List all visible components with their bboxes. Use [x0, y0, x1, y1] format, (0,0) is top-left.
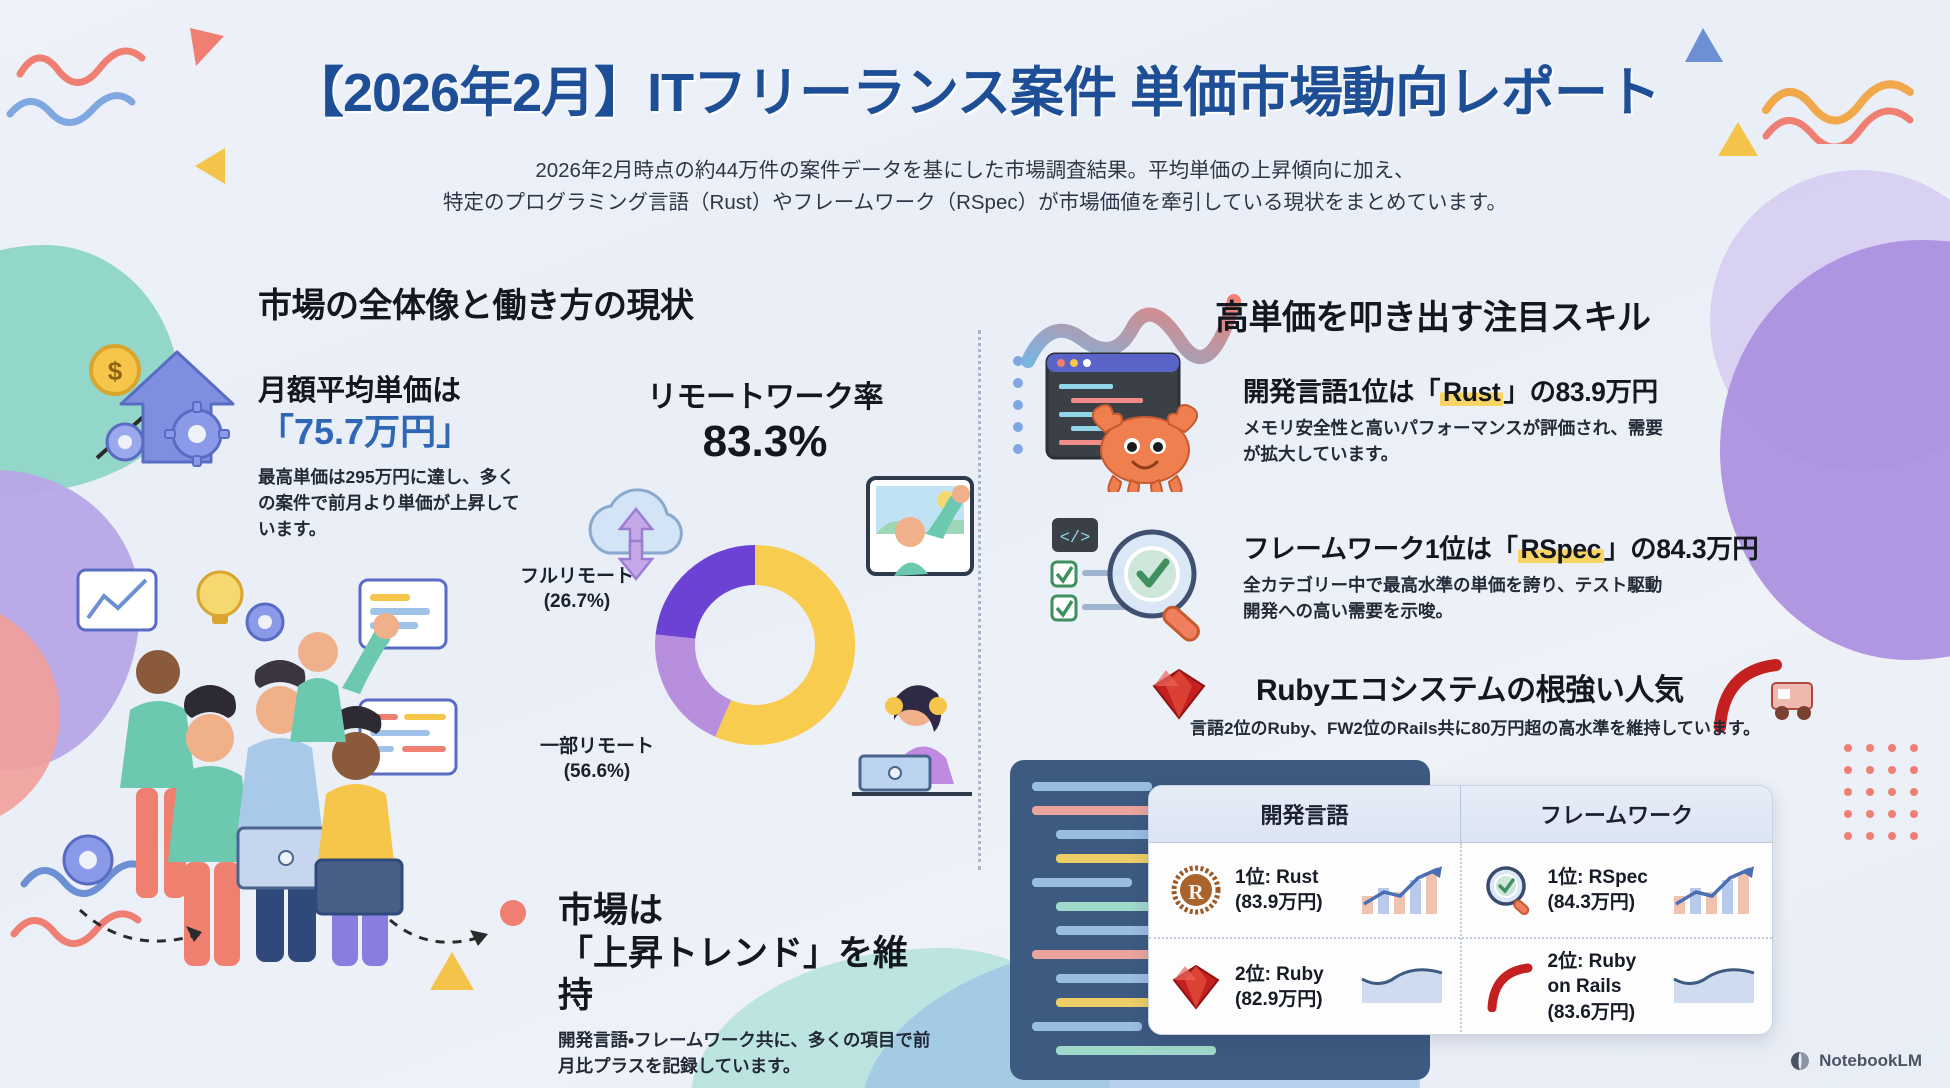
footer-brand-label: NotebookLM	[1819, 1051, 1922, 1071]
skill-rust-heading-post: 」の83.9万円	[1503, 377, 1657, 407]
table-row: 1位: RSpec (84.3万円)	[1462, 843, 1773, 939]
skill-rust-heading: 開発言語1位は「Rust」の83.9万円	[1243, 370, 1673, 409]
area-flat-sparkline-icon	[1670, 961, 1758, 1013]
remote-work-donut-chart	[630, 520, 880, 770]
ranking-cell-text: 2位: Ruby (82.9万円)	[1235, 962, 1346, 1012]
average-price-block: 月額平均単価は 「75.7万円」 最高単価は295万円に達し、多くの案件で前月よ…	[258, 375, 528, 542]
ranking-column-header-language: 開発言語	[1149, 786, 1461, 842]
rails-logo-icon	[1482, 960, 1536, 1014]
remote-work-label: リモートワーク率	[600, 372, 930, 416]
column-divider	[978, 330, 981, 870]
svg-text:R: R	[1188, 880, 1204, 904]
table-row: 2位: Ruby on Rails (83.6万円)	[1462, 939, 1773, 1035]
magnifier-check-list-icon: </>	[1048, 512, 1218, 647]
page-subtitle: 2026年2月時点の約44万件の案件データを基にした市場調査結果。平均単価の上昇…	[0, 155, 1950, 219]
donut-label-full-remote-name: フルリモート	[520, 565, 634, 590]
market-trend-title-line2: 「上昇トレンド」を維持	[558, 933, 938, 1018]
ranking-cell-text: 2位: Ruby on Rails (83.6万円)	[1548, 949, 1659, 1024]
ranking-rank-label: 1位: RSpec	[1548, 865, 1659, 890]
decor-squiggle-bottom-coral	[10, 900, 150, 960]
section-heading-left: 市場の全体像と働き方の現状	[258, 278, 694, 327]
skill-rspec-note: 全カテゴリー中で最高水準の単価を誇り、テスト駆動開発への高い需要を示唆。	[1243, 573, 1663, 625]
ranking-column-language: R 1位: Rust (83.9万円)	[1149, 843, 1462, 1035]
skill-item-ruby-ecosystem: Rubyエコシステムの根強い人気 言語2位のRuby、FW2位のRails共に8…	[1190, 665, 1790, 741]
rust-logo-icon: R	[1169, 863, 1223, 917]
subtitle-line-1: 2026年2月時点の約44万件の案件データを基にした市場調査結果。平均単価の上昇…	[0, 155, 1950, 187]
ranking-cell-text: 1位: Rust (83.9万円)	[1235, 865, 1346, 915]
skill-item-rspec: フレームワーク1位は「RSpec」の84.3万円 全カテゴリー中で最高水準の単価…	[1243, 527, 1758, 625]
ranking-price: (82.9万円)	[1235, 987, 1346, 1012]
ranking-table: 開発言語 フレームワーク R 1位: Rust (83.9万円)	[1148, 785, 1773, 1035]
skill-rspec-highlight: RSpec	[1518, 534, 1604, 564]
donut-slice-full-remote	[656, 545, 755, 639]
remote-work-percent: 83.3%	[600, 418, 930, 466]
ranking-column-header-framework: フレームワーク	[1461, 786, 1772, 842]
area-flat-sparkline-icon	[1358, 961, 1446, 1013]
average-price-note: 最高単価は295万円に達し、多くの案件で前月より単価が上昇しています。	[258, 464, 528, 543]
decor-dot-coral	[500, 900, 526, 926]
crab-terminal-icon	[1045, 352, 1220, 492]
page-title: 【2026年2月】ITフリーランス案件 単価市場動向レポート	[0, 48, 1950, 127]
skill-rspec-heading-post: 」の84.3万円	[1604, 534, 1758, 564]
skill-rust-heading-pre: 開発言語1位は「	[1243, 377, 1440, 407]
skill-ruby-heading: Rubyエコシステムの根強い人気	[1190, 665, 1790, 709]
average-price-value: 「75.7万円」	[258, 410, 528, 453]
donut-label-partial-remote: 一部リモート (56.6%)	[540, 735, 654, 784]
skill-rust-highlight: Rust	[1440, 377, 1503, 407]
decor-blob-coral	[0, 600, 60, 830]
ranking-table-header: 開発言語 フレームワーク	[1149, 786, 1772, 843]
decor-squiggle-bottom-blue	[20, 850, 160, 910]
decor-dot-grid	[1840, 740, 1940, 870]
donut-label-full-remote: フルリモート (26.7%)	[520, 565, 634, 614]
svg-text:</>: </>	[1060, 529, 1091, 548]
table-row: R 1位: Rust (83.9万円)	[1149, 843, 1460, 939]
svg-text:$: $	[108, 356, 123, 386]
skill-rspec-heading: フレームワーク1位は「RSpec」の84.3万円	[1243, 527, 1758, 566]
skill-item-rust: 開発言語1位は「Rust」の83.9万円 メモリ安全性と高いパフォーマンスが評価…	[1243, 370, 1673, 468]
market-trend-title-line1: 市場は	[558, 890, 938, 933]
team-people-illustration	[60, 560, 520, 980]
decor-triangle-yellow-3	[430, 952, 474, 996]
ranking-rank-label: 2位: Ruby	[1235, 962, 1346, 987]
ranking-column-framework: 1位: RSpec (84.3万円)	[1462, 843, 1773, 1035]
ruby-gem-icon	[1169, 960, 1223, 1014]
decor-dot-column	[1012, 355, 1026, 465]
ranking-price: (83.6万円)	[1548, 1000, 1659, 1025]
section-heading-right: 高単価を叩き出す注目スキル	[1215, 290, 1651, 339]
growth-arrow-gear-icon: $	[85, 330, 255, 480]
skill-ruby-note: 言語2位のRuby、FW2位のRails共に80万円超の高水準を維持しています。	[1190, 716, 1790, 741]
market-trend-note: 開発言語・フレームワーク共に、多くの項目で前月比プラスを記録しています。	[558, 1027, 938, 1080]
donut-slice-other	[655, 634, 731, 736]
ranking-table-body: R 1位: Rust (83.9万円)	[1149, 843, 1772, 1035]
average-price-label: 月額平均単価は	[258, 375, 528, 408]
skill-rust-note: メモリ安全性と高いパフォーマンスが評価され、需要が拡大しています。	[1243, 416, 1673, 468]
donut-label-partial-remote-name: 一部リモート	[540, 735, 654, 760]
magnifier-check-icon	[1482, 863, 1536, 917]
donut-label-full-remote-value: (26.7%)	[520, 590, 634, 615]
remote-work-block: リモートワーク率 83.3%	[600, 372, 930, 466]
footer-brand: NotebookLM	[1789, 1050, 1922, 1072]
ranking-rank-label: 1位: Rust	[1235, 865, 1346, 890]
ranking-rank-label: 2位: Ruby on Rails	[1548, 949, 1659, 999]
bar-up-sparkline-icon	[1670, 864, 1758, 916]
subtitle-line-2: 特定のプログラミング言語（Rust）やフレームワーク（RSpec）が市場価値を牽…	[0, 187, 1950, 219]
infographic-poster: 【2026年2月】ITフリーランス案件 単価市場動向レポート 2026年2月時点…	[0, 0, 1950, 1088]
decor-blob-teal	[0, 245, 180, 495]
bar-up-sparkline-icon	[1358, 864, 1446, 916]
ranking-price: (84.3万円)	[1548, 890, 1659, 915]
notebooklm-logo-icon	[1789, 1050, 1811, 1072]
skill-rspec-heading-pre: フレームワーク1位は「	[1243, 534, 1518, 564]
decor-blob-purple	[0, 470, 140, 770]
ranking-price: (83.9万円)	[1235, 890, 1346, 915]
market-trend-block: 市場は 「上昇トレンド」を維持 開発言語・フレームワーク共に、多くの項目で前月比…	[558, 890, 938, 1080]
donut-label-partial-remote-value: (56.6%)	[540, 760, 654, 785]
ranking-cell-text: 1位: RSpec (84.3万円)	[1548, 865, 1659, 915]
table-row: 2位: Ruby (82.9万円)	[1149, 939, 1460, 1035]
